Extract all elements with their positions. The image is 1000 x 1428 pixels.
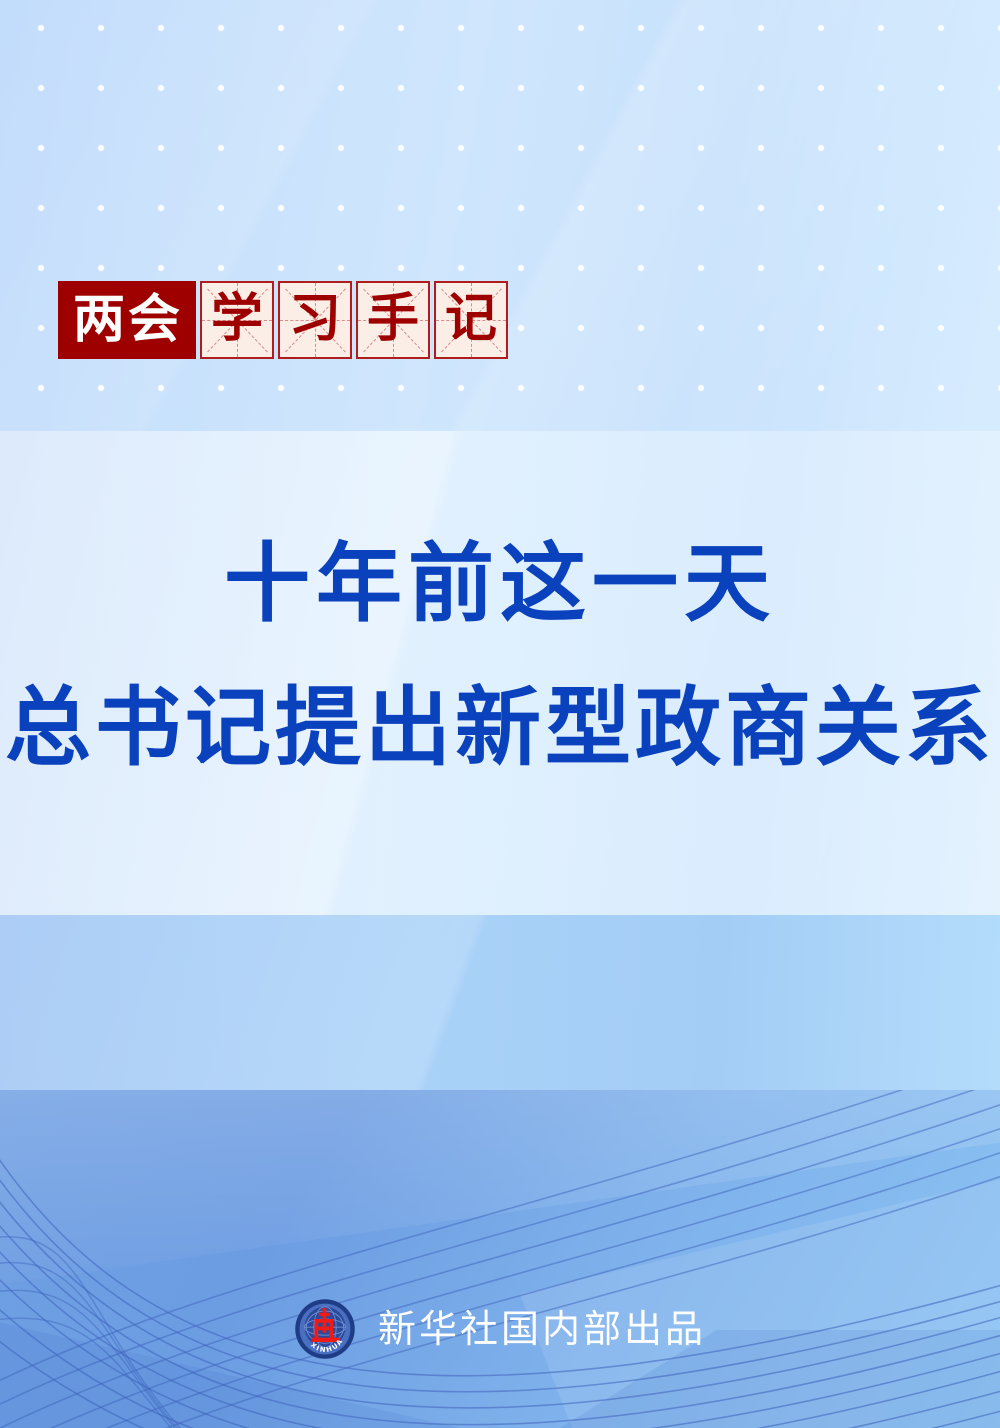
page-title: 十年前这一天 总书记提出新型政商关系: [0, 528, 1000, 784]
dot-grid-pattern: [0, 0, 1000, 431]
grid-character-row: 学 习 手 记: [200, 281, 508, 359]
title-line-2: 总书记提出新型政商关系: [0, 672, 1000, 784]
grid-cell-glyph: 记: [436, 283, 506, 357]
grid-cell-char-3: 记: [434, 281, 508, 359]
xinhua-logo-icon: XINHUA: [294, 1298, 356, 1360]
header-series-mark: 两会 学 习 手: [58, 281, 508, 359]
background-band-lower: [0, 915, 1000, 1090]
background-band-top: [0, 0, 1000, 431]
grid-cell-char-0: 学: [200, 281, 274, 359]
grid-cell-glyph: 手: [358, 283, 428, 357]
badge-lianghui: 两会: [58, 281, 196, 359]
poster-canvas: 两会 学 习 手: [0, 0, 1000, 1428]
footer-credit-row: XINHUA 新华社国内部出品: [0, 1298, 1000, 1360]
grid-cell-char-2: 手: [356, 281, 430, 359]
grid-cell-glyph: 学: [202, 283, 272, 357]
footer-credit-text: 新华社国内部出品: [378, 1298, 706, 1360]
grid-cell-glyph: 习: [280, 283, 350, 357]
background-band-bottom: [0, 1090, 1000, 1428]
title-line-1: 十年前这一天: [0, 528, 1000, 640]
grid-cell-char-1: 习: [278, 281, 352, 359]
